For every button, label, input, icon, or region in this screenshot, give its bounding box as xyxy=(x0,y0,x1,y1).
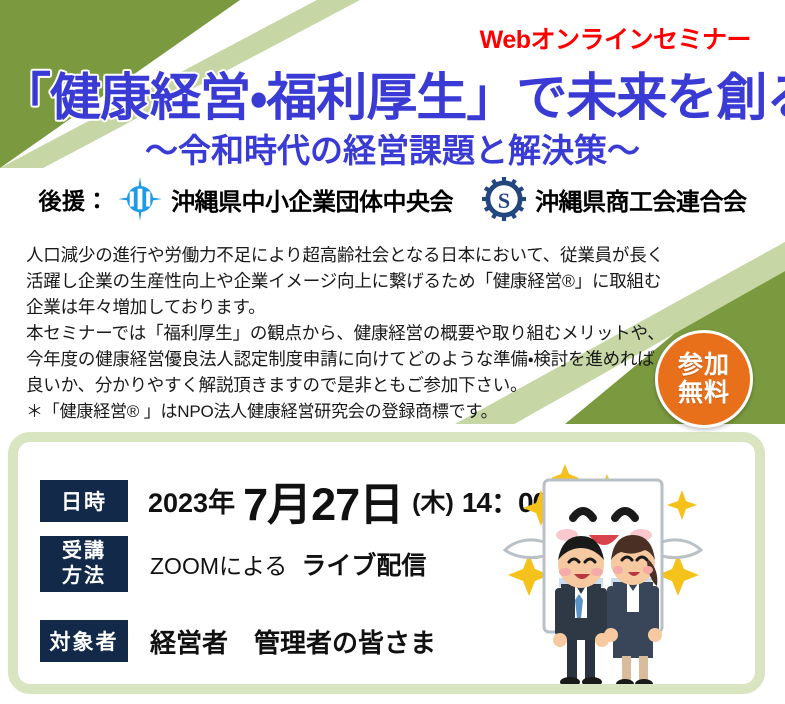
method-tag: 受講 方法 xyxy=(40,536,128,592)
description-line: 人口減少の進行や労働力不足により超高齢社会となる日本において、従業員が長く xyxy=(26,244,686,267)
svg-text:S: S xyxy=(498,188,510,213)
date-day-of-week: (木) xyxy=(412,483,454,519)
sponsor-org2-name: 沖縄県商工会連合会 xyxy=(535,182,747,217)
shokokai-gear-logo: S xyxy=(482,177,526,221)
audience-value: 経営者 管理者の皆さま xyxy=(150,623,436,660)
seminar-flyer: Webオンラインセミナー 「健康経営・福利厚生」で未来を創る！ 〜令和時代の経営… xyxy=(0,0,785,704)
page-title: 「健康経営・福利厚生」で未来を創る！ xyxy=(0,56,785,130)
description-line: 今年度の健康経営優良法人認定制度申請に向けてどのような準備・検討を進めれば xyxy=(26,348,686,371)
method-tag-line1: 受講 xyxy=(62,539,106,564)
method-prefix: ZOOMによる xyxy=(150,547,287,581)
sponsor-lead-label: 後援： xyxy=(39,182,110,216)
details-panel: 日時 2023年 7月27日 (木) 14：00〜15：30 受講 方法 ZOO… xyxy=(8,432,765,694)
page-subtitle: 〜令和時代の経営課題と解決策〜 xyxy=(0,124,785,172)
description-line: 活躍し企業の生産性向上や企業イメージ向上に繋げるため「健康経営®」に取組む xyxy=(26,270,686,293)
web-seminar-label: Webオンラインセミナー xyxy=(480,20,751,56)
method-tag-line2: 方法 xyxy=(62,564,106,589)
detail-row-method: 受講 方法 ZOOMによる ライブ配信 xyxy=(40,536,426,592)
certificate-character-illustration xyxy=(489,452,739,694)
free-participation-badge: 参加 無料 xyxy=(655,330,753,428)
detail-row-audience: 対象者 経営者 管理者の皆さま xyxy=(40,620,436,662)
description-paragraph: 人口減少の進行や労働力不足により超高齢社会となる日本において、従業員が長く 活躍… xyxy=(26,244,686,424)
description-line: 良いか、分かりやすく解説頂きますので是非ともご参加下さい。 xyxy=(26,374,686,397)
date-year: 2023年 xyxy=(148,481,235,520)
businesswoman-figure xyxy=(604,535,662,689)
date-day: 7月27日 xyxy=(243,468,403,533)
trademark-note: ＊「健康経営® 」はNPO法人健康経営研究会の登録商標です。 xyxy=(26,400,686,423)
chuokai-emblem-logo xyxy=(118,177,162,221)
sponsor-org1-name: 沖縄県中小企業団体中央会 xyxy=(171,182,453,217)
date-tag: 日時 xyxy=(40,480,128,522)
description-line: 本セミナーでは「福利厚生」の観点から、健康経営の概要や取り組むメリットや、 xyxy=(26,322,686,345)
businessman-figure xyxy=(553,536,609,687)
description-line: 企業は年々増加しております。 xyxy=(26,296,686,319)
audience-tag: 対象者 xyxy=(40,620,128,662)
sponsor-row: 後援： 沖縄県中小企業団体中央会 xyxy=(0,176,785,222)
free-badge-line1: 参加 xyxy=(678,351,730,379)
method-value: ライブ配信 xyxy=(301,546,426,582)
free-badge-line2: 無料 xyxy=(678,379,730,407)
